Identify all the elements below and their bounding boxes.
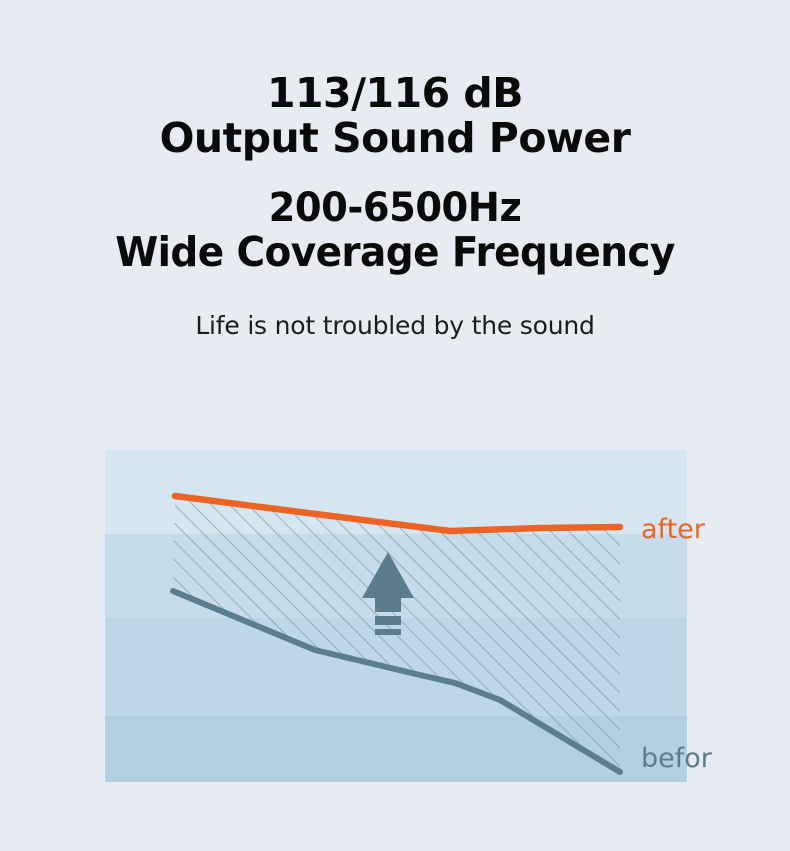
frequency-label-heading: Wide Coverage Frequency <box>20 231 771 274</box>
spec-value-heading: 113/116 dB <box>0 72 790 115</box>
product-spec-page: 113/116 dB Output Sound Power 200-6500Hz… <box>0 0 790 851</box>
page-subtitle: Life is not troubled by the sound <box>0 311 790 340</box>
legend-label-befor: befor <box>641 743 713 774</box>
legend-label-after: after <box>641 514 706 545</box>
headings-block: 113/116 dB Output Sound Power 200-6500Hz… <box>0 0 790 340</box>
spec-label-heading: Output Sound Power <box>0 117 790 160</box>
frequency-block: 200-6500Hz Wide Coverage Frequency <box>0 187 790 275</box>
sound-comparison-chart: after befor <box>0 440 790 800</box>
frequency-value-heading: 200-6500Hz <box>16 187 774 229</box>
